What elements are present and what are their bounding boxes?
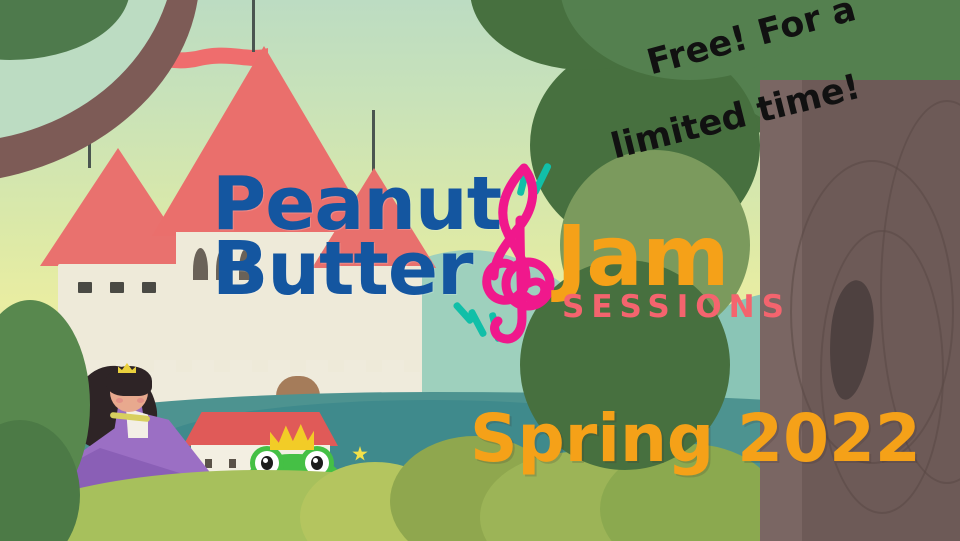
title-line-butter: Butter xyxy=(212,237,501,302)
tower-window-left-1 xyxy=(78,282,92,293)
castle-merlon xyxy=(268,360,290,376)
princess-cheek xyxy=(116,398,123,403)
princess-cheek xyxy=(137,398,144,403)
castle-merlon xyxy=(306,360,328,376)
brand-sessions: SESSIONS xyxy=(562,289,791,325)
tower-window-left-2 xyxy=(110,282,124,293)
frog-crown-icon xyxy=(270,424,314,450)
brand-jam: Jam xyxy=(556,222,791,291)
page-title: Peanut Butter xyxy=(212,172,501,302)
tower-window-left-3 xyxy=(142,282,156,293)
season-label: Spring 2022 xyxy=(470,400,921,477)
castle-merlon xyxy=(382,360,404,376)
brand-name-block: Jam SESSIONS xyxy=(556,222,791,325)
frog-eye-shine-right xyxy=(313,458,318,463)
castle-merlon xyxy=(344,360,366,376)
frog-eye-shine-left xyxy=(263,458,268,463)
castle-flagpole-main xyxy=(252,0,255,52)
promotional-poster: Peanut Butter Jam SESSIONS Free! For a l… xyxy=(0,0,960,541)
